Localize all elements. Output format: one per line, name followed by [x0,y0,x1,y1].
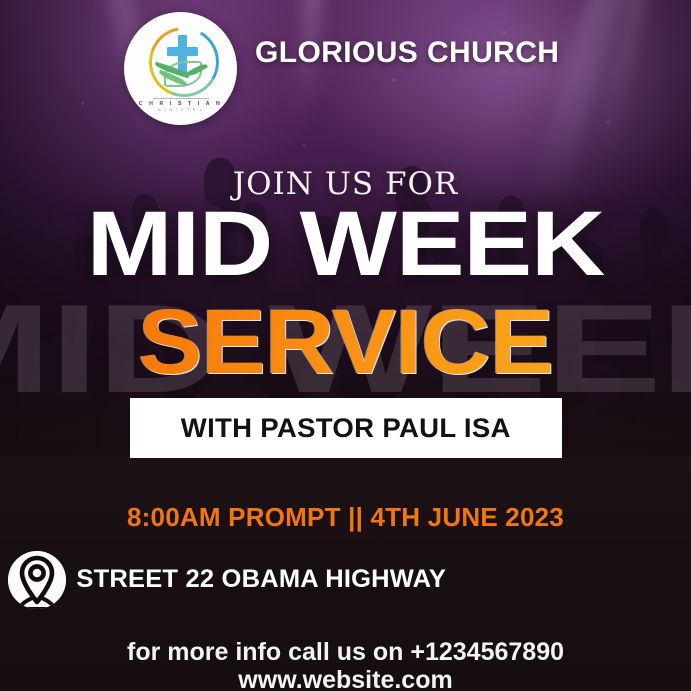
location-pin-icon [8,551,66,609]
logo-divider [153,98,209,99]
church-cross-dove-logo-icon [142,27,220,97]
hero-title-line1: MID WEEK [0,198,691,290]
contact-line: for more info call us on +1234567890 [0,638,691,667]
time-date-line: 8:00AM PROMPT || 4TH JUNE 2023 [0,504,691,533]
speaker-bar-label: WITH PASTOR PAUL ISA [181,413,511,444]
logo-wordmark: C H R I S T I A N [139,101,223,107]
address-line: STREET 22 OBAMA HIGHWAY [76,565,446,594]
cross-horizontal [167,47,198,56]
hero-title-line2: SERVICE [0,296,691,388]
website-line: www.website.com [0,666,691,691]
brand-name: GLORIOUS CHURCH [255,36,559,70]
church-logo: C H R I S T I A N M I N I S T R Y [124,12,237,125]
flyer-canvas: C H R I S T I A N M I N I S T R Y GLORIO… [0,0,691,691]
logo-subwordmark: M I N I S T R Y [158,108,203,112]
speaker-bar: WITH PASTOR PAUL ISA [130,398,562,458]
